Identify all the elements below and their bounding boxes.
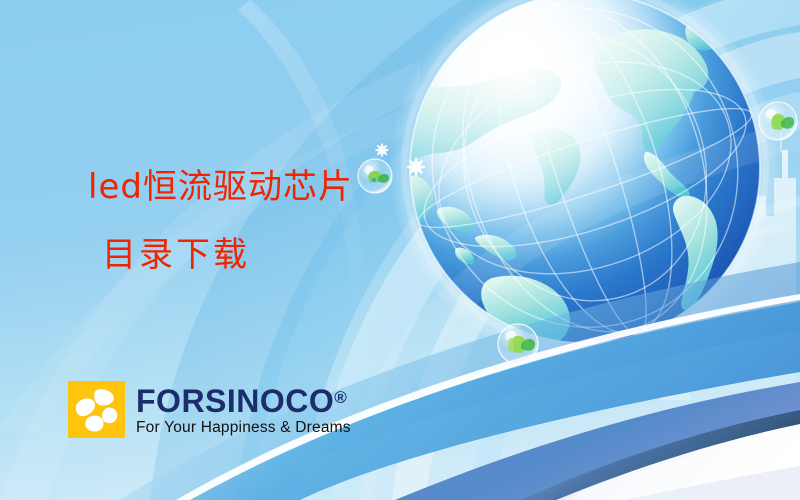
logo-wordmark-text: FORSINOCO	[136, 383, 334, 419]
company-logo: FORSINOCO® For Your Happiness & Dreams	[68, 381, 351, 438]
bubble-leaf-mid	[498, 324, 538, 364]
sparkle-1	[375, 143, 389, 157]
logo-text-block: FORSINOCO® For Your Happiness & Dreams	[136, 381, 351, 437]
headline-line-2: 目录下载	[102, 234, 353, 276]
bubble-chip-top	[358, 159, 392, 193]
pinwheel-petals	[76, 389, 117, 431]
sparkle-2	[407, 158, 426, 177]
logo-wordmark: FORSINOCO®	[136, 382, 351, 417]
headline-line-1: led恒流驱动芯片	[88, 166, 353, 208]
promo-banner: led恒流驱动芯片 目录下载 FORSINOCO® For Your Happi…	[0, 0, 800, 500]
forsinoco-pinwheel-mark	[68, 381, 125, 438]
registered-trademark-icon: ®	[334, 388, 347, 407]
bubble-leaf-right	[759, 102, 797, 140]
logo-tagline: For Your Happiness & Dreams	[136, 419, 351, 437]
headline-block: led恒流驱动芯片 目录下载	[88, 166, 353, 276]
